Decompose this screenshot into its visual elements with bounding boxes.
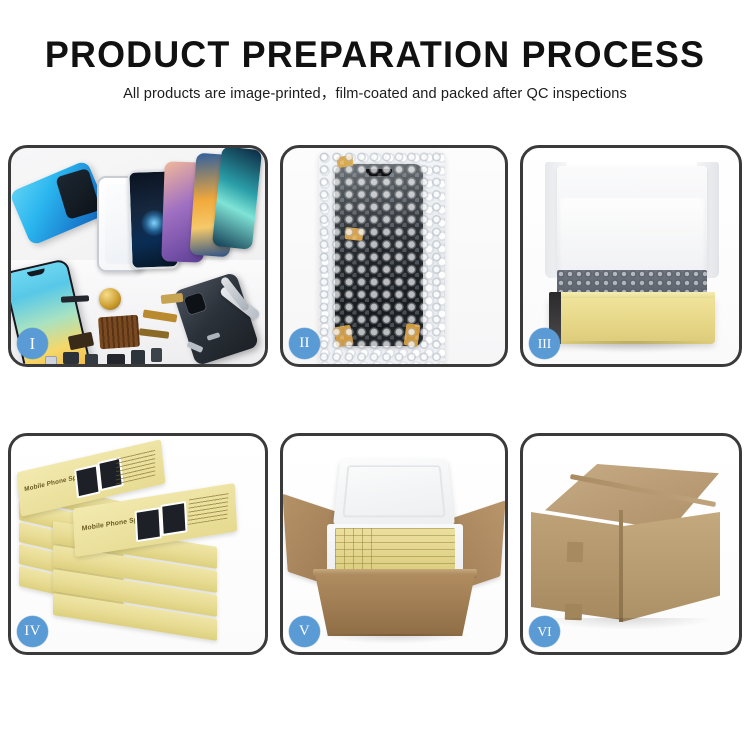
blue-lcd-assembly-icon xyxy=(11,160,109,246)
vibration-motor-icon xyxy=(131,350,145,364)
process-step-1-panel[interactable]: I xyxy=(8,145,268,367)
screw-tray-icon xyxy=(98,315,140,350)
process-step-2-panel[interactable]: II xyxy=(280,145,508,367)
foam-lid xyxy=(333,459,455,526)
sim-tray-icon xyxy=(151,348,162,362)
step-badge-3: III xyxy=(529,328,560,359)
page-subtitle: All products are image-printed，film-coat… xyxy=(0,87,750,102)
process-step-grid: I II III xyxy=(8,145,742,655)
box-window-screen-3 xyxy=(135,507,162,542)
speaker-coil-icon xyxy=(99,288,121,310)
carton-drop-shadow xyxy=(319,634,471,644)
step-badge-5: V xyxy=(289,616,320,647)
step-badge-6: VI xyxy=(529,616,560,647)
step-badge-4: IV xyxy=(17,616,48,647)
process-step-5-panel[interactable]: V xyxy=(280,433,508,655)
process-step-6-panel[interactable]: VI xyxy=(520,433,742,655)
box-spec-lines-second xyxy=(188,492,229,525)
box-drop-shadow xyxy=(553,341,711,353)
white-foam-sheet xyxy=(559,198,705,276)
component-chip-3-icon xyxy=(107,354,125,364)
page-title: PRODUCT PREPARATION PROCESS xyxy=(11,36,739,73)
process-step-3-panel[interactable]: III xyxy=(520,145,742,367)
box-window-screen-1 xyxy=(74,464,100,498)
phone-parts-photo xyxy=(11,148,265,364)
box-window-screen-4 xyxy=(160,501,187,536)
page-header: PRODUCT PREPARATION PROCESS All products… xyxy=(0,0,750,102)
bubble-texture-overlay xyxy=(319,152,445,364)
component-chip-2-icon xyxy=(85,354,98,364)
camera-module-icon xyxy=(45,356,57,364)
carton-flap-tab-upper xyxy=(567,542,584,563)
step-badge-2: II xyxy=(289,328,320,359)
box-spec-lines-top xyxy=(116,449,155,485)
yellow-boxes-inside xyxy=(335,528,455,570)
carton-body xyxy=(315,574,475,636)
bubble-wrapped-screen-photo xyxy=(283,148,505,364)
stacked-retail-boxes-photo: Mobile Phone Spare Parts Mobile Phone Sp… xyxy=(11,436,265,652)
step-badge-1: I xyxy=(17,328,48,359)
process-step-4-panel[interactable]: Mobile Phone Spare Parts Mobile Phone Sp… xyxy=(8,433,268,655)
carton-with-foam-liner-photo xyxy=(283,436,505,652)
component-chip-icon xyxy=(63,352,79,364)
carton-vertical-edge xyxy=(619,510,623,622)
box-stack: Mobile Phone Spare Parts Mobile Phone Sp… xyxy=(17,450,245,644)
kraft-box-body xyxy=(549,298,715,344)
carton-side-face xyxy=(622,512,720,622)
sealed-carton-drop-shadow xyxy=(539,618,715,630)
